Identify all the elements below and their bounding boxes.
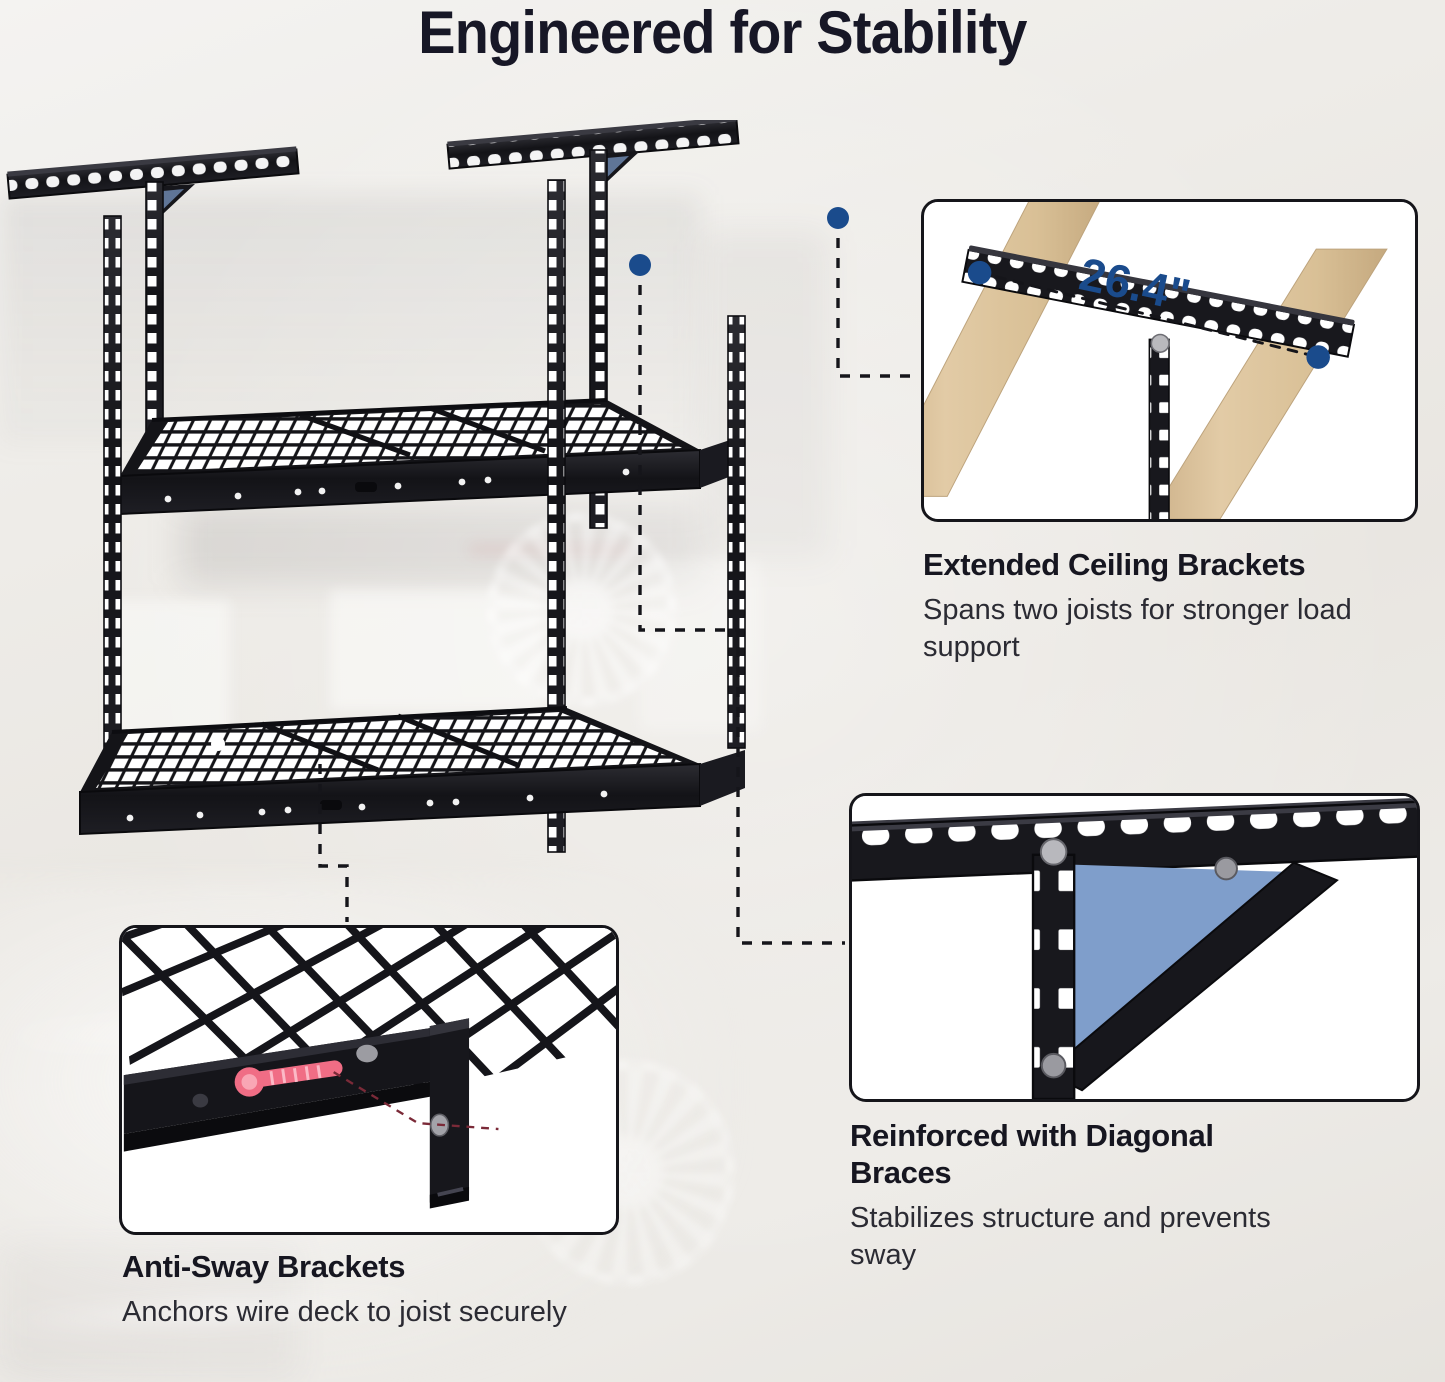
bolt-bottom <box>1042 1054 1066 1078</box>
callout-card-anti-sway-brackets <box>119 925 619 1235</box>
bolt-top <box>1041 839 1066 864</box>
ceiling-bracket-figure: 26.4" <box>924 202 1415 519</box>
anti-sway-bracket-figure <box>122 928 616 1232</box>
diagonal-brace-figure <box>852 796 1417 1099</box>
upper-shelf <box>120 400 742 514</box>
caption-title: Extended Ceiling Brackets <box>923 546 1423 583</box>
caption-description: Stabilizes structure and prevents sway <box>850 1200 1320 1274</box>
callout-card-diagonal-braces <box>849 793 1420 1102</box>
callout-card-ceiling-brackets: 26.4" <box>921 199 1418 522</box>
vertical-post-right-rear <box>728 316 745 748</box>
caption-title: Anti-Sway Brackets <box>122 1248 742 1285</box>
infographic-page: Engineered for Stability <box>0 0 1445 1382</box>
vertical-post-back-left <box>146 182 163 442</box>
rail-hole <box>356 1045 378 1063</box>
lower-shelf <box>80 708 745 834</box>
caption-ceiling-brackets: Extended Ceiling Brackets Spans two jois… <box>923 546 1423 666</box>
caption-description: Spans two joists for stronger load suppo… <box>923 592 1423 666</box>
rail-hole <box>192 1094 208 1108</box>
rack-assembly <box>7 120 745 852</box>
bolt-right <box>1215 858 1237 880</box>
caption-diagonal-braces: Reinforced with Diagonal Braces Stabiliz… <box>850 1117 1320 1275</box>
caption-description: Anchors wire deck to joist securely <box>122 1294 742 1331</box>
product-illustration <box>0 120 860 920</box>
vertical-post-front-left <box>104 216 121 796</box>
anti-sway-post <box>430 1018 469 1208</box>
ceiling-bracket-post <box>1149 339 1169 519</box>
caption-anti-sway-brackets: Anti-Sway Brackets Anchors wire deck to … <box>122 1248 742 1331</box>
caption-title: Reinforced with Diagonal Braces <box>850 1117 1320 1191</box>
page-title: Engineered for Stability <box>51 0 1395 67</box>
